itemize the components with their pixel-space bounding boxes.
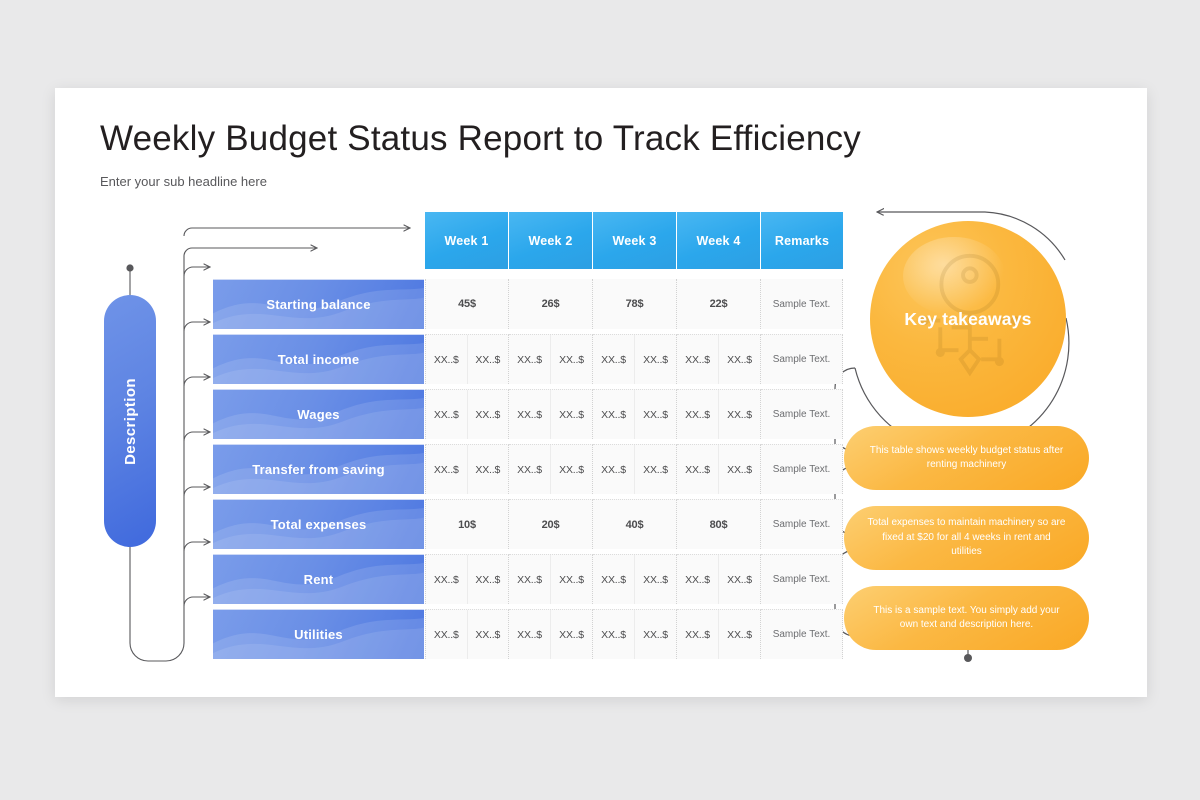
table-cell: XX..$: [426, 335, 467, 384]
week-cell-group: XX..$XX..$: [425, 334, 509, 384]
remark-cell: Sample Text.: [761, 334, 843, 384]
description-label: Description: [122, 378, 139, 465]
table-cell: XX..$: [718, 555, 760, 604]
table-cell: XX..$: [509, 555, 550, 604]
table-cell: XX..$: [593, 445, 634, 494]
table-cell: XX..$: [718, 335, 760, 384]
table-cell: XX..$: [677, 610, 718, 659]
table-cell: XX..$: [634, 445, 676, 494]
table-cell: XX..$: [467, 390, 509, 439]
row-label-total-expenses: Total expenses: [213, 499, 424, 549]
table-cell: 40$: [593, 500, 676, 549]
remark-cell: Sample Text.: [761, 554, 843, 604]
table-cell: XX..$: [550, 335, 592, 384]
remark-cell: Sample Text.: [761, 609, 843, 659]
row-label-text: Utilities: [294, 627, 343, 642]
table-cell: XX..$: [593, 555, 634, 604]
description-capsule[interactable]: Description: [104, 295, 156, 547]
table-cell: XX..$: [467, 335, 509, 384]
takeaway-pill-2[interactable]: Total expenses to maintain machinery so …: [844, 506, 1089, 570]
table-cell: 45$: [426, 279, 508, 329]
table-cell: XX..$: [593, 610, 634, 659]
week-cell-group: XX..$XX..$: [425, 389, 509, 439]
table-cell: XX..$: [634, 555, 676, 604]
row-label-text: Transfer from saving: [252, 462, 385, 477]
table-cell: XX..$: [550, 555, 592, 604]
table-cell: XX..$: [593, 390, 634, 439]
table-cell: XX..$: [550, 610, 592, 659]
table-cell: XX..$: [550, 445, 592, 494]
table-row: Starting balance45$26$78$22$Sample Text.: [213, 279, 843, 329]
week-cell-group: 80$: [677, 499, 761, 549]
row-label-wages: Wages: [213, 389, 424, 439]
row-label-transfer-from-saving: Transfer from saving: [213, 444, 424, 494]
table-cell: XX..$: [677, 335, 718, 384]
week-cell-group: XX..$XX..$: [593, 334, 677, 384]
table-cell: XX..$: [509, 445, 550, 494]
table-cell: XX..$: [718, 610, 760, 659]
table-cell: 26$: [509, 279, 592, 329]
table-cell: XX..$: [677, 445, 718, 494]
row-label-text: Total income: [278, 352, 360, 367]
table-header-row: Week 1 Week 2 Week 3 Week 4 Remarks: [425, 212, 843, 269]
table-cell: 78$: [593, 279, 676, 329]
table-cell: XX..$: [718, 445, 760, 494]
week-cell-group: XX..$XX..$: [509, 334, 593, 384]
table-cell: XX..$: [509, 610, 550, 659]
week-cell-group: 20$: [509, 499, 593, 549]
key-takeaways-circle[interactable]: Key takeaways: [870, 221, 1066, 417]
table-cell: XX..$: [467, 555, 509, 604]
column-header-remarks: Remarks: [761, 212, 843, 269]
table-row: UtilitiesXX..$XX..$XX..$XX..$XX..$XX..$X…: [213, 609, 843, 659]
week-cell-group: XX..$XX..$: [509, 389, 593, 439]
table-cell: XX..$: [467, 610, 509, 659]
row-label-text: Wages: [297, 407, 339, 422]
page-title: Weekly Budget Status Report to Track Eff…: [100, 119, 861, 159]
remark-cell: Sample Text.: [761, 389, 843, 439]
slide-canvas: Weekly Budget Status Report to Track Eff…: [55, 88, 1147, 697]
row-label-total-income: Total income: [213, 334, 424, 384]
remark-cell: Sample Text.: [761, 444, 843, 494]
table-cell: 80$: [677, 500, 760, 549]
table-cell: 22$: [677, 279, 760, 329]
week-cell-group: XX..$XX..$: [593, 389, 677, 439]
week-cell-group: 40$: [593, 499, 677, 549]
week-cell-group: XX..$XX..$: [677, 334, 761, 384]
week-cell-group: 45$: [425, 279, 509, 329]
table-cell: XX..$: [677, 555, 718, 604]
row-label-starting-balance: Starting balance: [213, 279, 424, 329]
table-cell: XX..$: [509, 390, 550, 439]
table-row: RentXX..$XX..$XX..$XX..$XX..$XX..$XX..$X…: [213, 554, 843, 604]
table-row: Total incomeXX..$XX..$XX..$XX..$XX..$XX.…: [213, 334, 843, 384]
table-cell: XX..$: [634, 335, 676, 384]
week-cell-group: 10$: [425, 499, 509, 549]
row-label-text: Starting balance: [266, 297, 370, 312]
table-cell: XX..$: [426, 610, 467, 659]
table-cell: XX..$: [509, 335, 550, 384]
key-takeaways-label: Key takeaways: [904, 309, 1031, 330]
row-label-text: Rent: [304, 572, 334, 587]
row-label-rent: Rent: [213, 554, 424, 604]
table-cell: XX..$: [426, 555, 467, 604]
table-cell: XX..$: [634, 390, 676, 439]
remark-cell: Sample Text.: [761, 279, 843, 329]
week-cell-group: XX..$XX..$: [509, 554, 593, 604]
week-cell-group: XX..$XX..$: [509, 609, 593, 659]
column-header-week-1: Week 1: [425, 212, 508, 269]
table-cell: XX..$: [426, 445, 467, 494]
week-cell-group: XX..$XX..$: [593, 554, 677, 604]
remark-cell: Sample Text.: [761, 499, 843, 549]
week-cell-group: XX..$XX..$: [425, 554, 509, 604]
page-subtitle: Enter your sub headline here: [100, 174, 267, 189]
week-cell-group: XX..$XX..$: [425, 609, 509, 659]
row-label-utilities: Utilities: [213, 609, 424, 659]
table-cell: 10$: [426, 500, 508, 549]
column-header-week-4: Week 4: [677, 212, 760, 269]
column-header-week-3: Week 3: [593, 212, 676, 269]
table-row: Total expenses10$20$40$80$Sample Text.: [213, 499, 843, 549]
week-cell-group: 26$: [509, 279, 593, 329]
table-cell: XX..$: [677, 390, 718, 439]
week-cell-group: XX..$XX..$: [425, 444, 509, 494]
table-row: WagesXX..$XX..$XX..$XX..$XX..$XX..$XX..$…: [213, 389, 843, 439]
week-cell-group: XX..$XX..$: [593, 444, 677, 494]
table-cell: XX..$: [718, 390, 760, 439]
table-row: Transfer from savingXX..$XX..$XX..$XX..$…: [213, 444, 843, 494]
week-cell-group: XX..$XX..$: [593, 609, 677, 659]
table-cell: XX..$: [550, 390, 592, 439]
table-cell: XX..$: [426, 390, 467, 439]
week-cell-group: XX..$XX..$: [677, 389, 761, 439]
takeaway-pill-3[interactable]: This is a sample text. You simply add yo…: [844, 586, 1089, 650]
table-cell: XX..$: [593, 335, 634, 384]
week-cell-group: XX..$XX..$: [677, 554, 761, 604]
table-cell: XX..$: [634, 610, 676, 659]
takeaway-pill-1[interactable]: This table shows weekly budget status af…: [844, 426, 1089, 490]
table-cell: 20$: [509, 500, 592, 549]
table-cell: XX..$: [467, 445, 509, 494]
column-header-week-2: Week 2: [509, 212, 592, 269]
week-cell-group: 22$: [677, 279, 761, 329]
week-cell-group: XX..$XX..$: [677, 609, 761, 659]
week-cell-group: XX..$XX..$: [509, 444, 593, 494]
week-cell-group: 78$: [593, 279, 677, 329]
week-cell-group: XX..$XX..$: [677, 444, 761, 494]
row-label-text: Total expenses: [271, 517, 367, 532]
